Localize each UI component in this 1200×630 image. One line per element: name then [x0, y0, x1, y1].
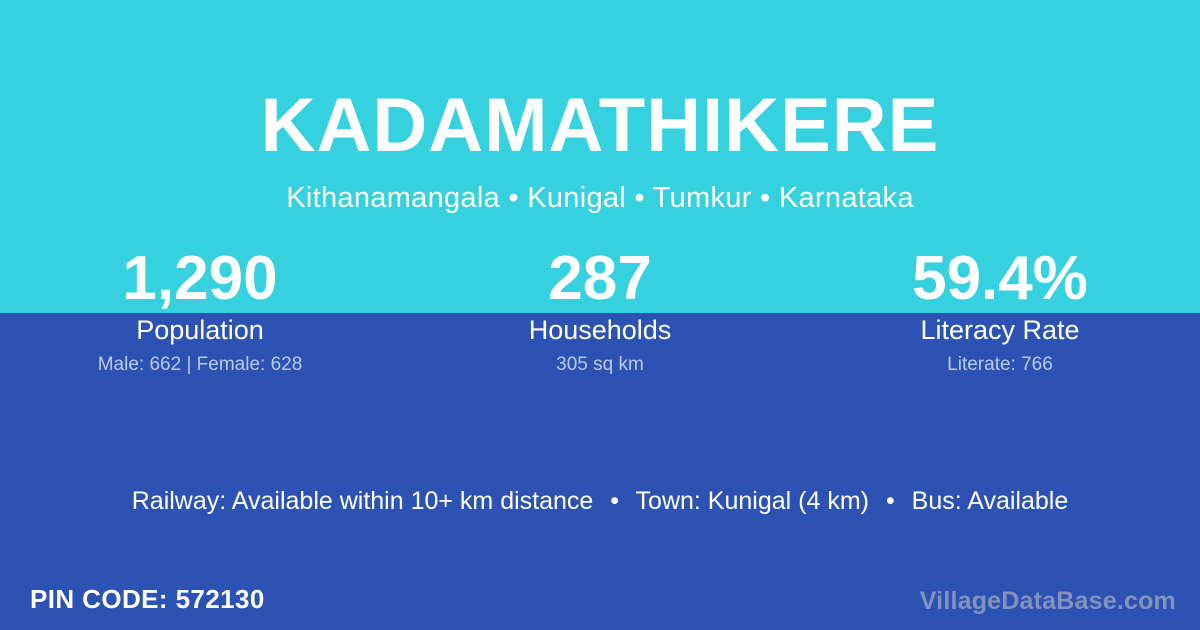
- infra-railway: Railway: Available within 10+ km distanc…: [132, 487, 594, 515]
- infra-town: Town: Kunigal (4 km): [636, 487, 869, 515]
- stat-value-literacy-rate: 59.4%: [800, 246, 1200, 312]
- stats-row: 1,290 Population Male: 662 | Female: 628…: [0, 246, 1200, 377]
- site-watermark: VillageDataBase.com: [920, 585, 1176, 617]
- infra-bus: Bus: Available: [912, 487, 1069, 515]
- stat-population: 1,290 Population Male: 662 | Female: 628: [0, 246, 400, 377]
- stat-value-population: 1,290: [0, 246, 400, 312]
- stat-sub-households: 305 sq km: [400, 353, 800, 377]
- pin-code: PIN CODE: 572130: [30, 582, 265, 616]
- footer: PIN CODE: 572130 VillageDataBase.com: [0, 570, 1200, 630]
- infra-separator-2: •: [876, 485, 905, 517]
- stat-sub-literacy-rate: Literate: 766: [800, 353, 1200, 377]
- stat-label-literacy-rate: Literacy Rate: [800, 313, 1200, 347]
- stat-label-households: Households: [400, 313, 800, 347]
- stat-value-households: 287: [400, 246, 800, 312]
- stat-literacy-rate: 59.4% Literacy Rate Literate: 766: [800, 246, 1200, 377]
- infrastructure-line: Railway: Available within 10+ km distanc…: [0, 485, 1200, 517]
- infra-separator-1: •: [600, 485, 629, 517]
- village-info-card: KADAMATHIKERE Kithanamangala • Kunigal •…: [0, 0, 1200, 630]
- stat-households: 287 Households 305 sq km: [400, 246, 800, 377]
- stat-sub-population: Male: 662 | Female: 628: [0, 353, 400, 377]
- stat-label-population: Population: [0, 313, 400, 347]
